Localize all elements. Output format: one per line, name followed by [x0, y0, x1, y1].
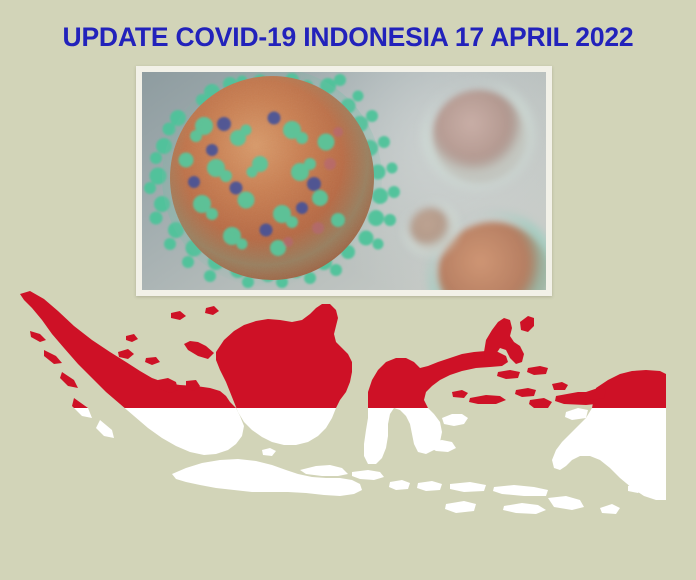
indonesia-map [0, 0, 696, 580]
poster-canvas: UPDATE COVID-19 INDONESIA 17 APRIL 2022 [0, 0, 696, 580]
indonesia-map-svg [0, 0, 696, 580]
